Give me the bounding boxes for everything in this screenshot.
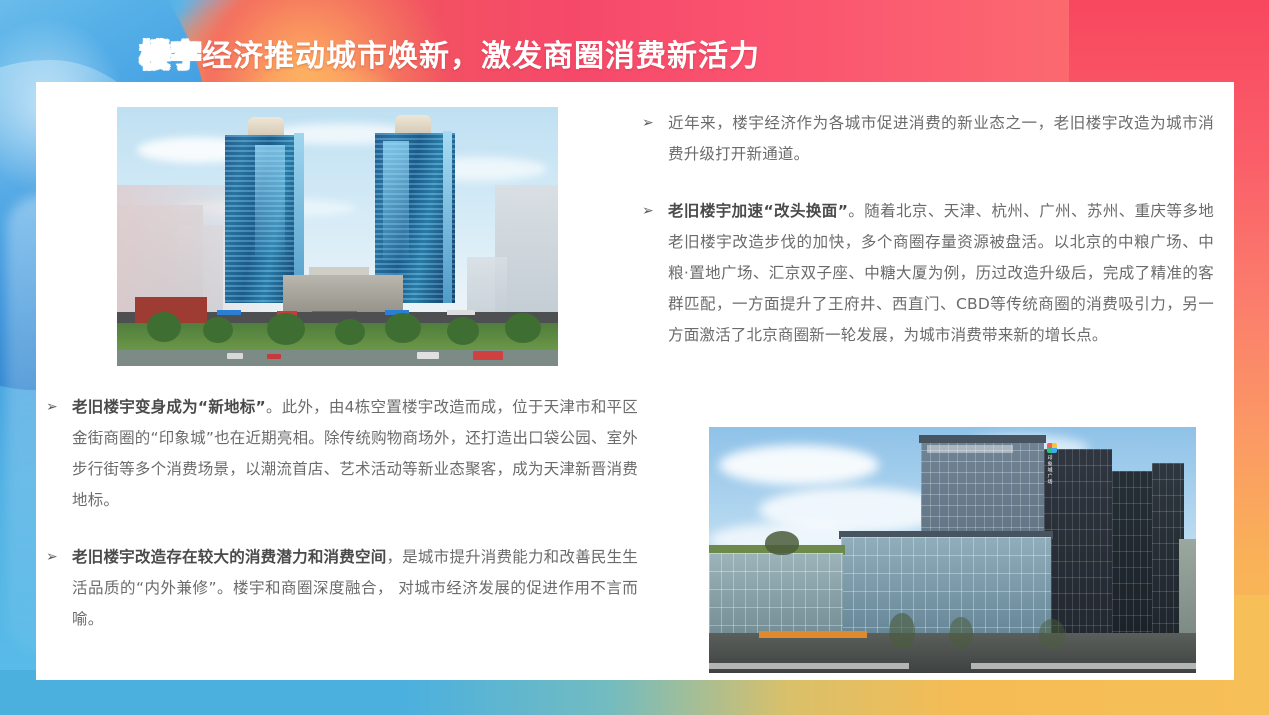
photo2-street-tree xyxy=(949,617,973,649)
photo1-tree xyxy=(147,312,181,342)
bullet-bold-lead: 老旧楼宇加速“改头换面” xyxy=(668,202,848,220)
photo2-street-tree xyxy=(889,613,915,649)
photo2-rooftop-tree xyxy=(765,531,799,555)
photo2-atrium-glass xyxy=(841,537,1051,639)
twin-blue-glass-office-towers-photo xyxy=(117,107,558,366)
photo1-vehicle xyxy=(473,351,503,360)
photo1-vehicle xyxy=(267,354,281,359)
photo1-tree xyxy=(447,317,479,345)
photo2-atrium-glass-grid xyxy=(841,537,1051,639)
bullet-arrow-icon: ➢ xyxy=(642,108,668,170)
photo2-curb xyxy=(971,663,1196,669)
photo2-curb xyxy=(709,663,909,669)
right-text-column: ➢ 近年来，楼宇经济作为各城市促进消费的新业态之一，老旧楼宇改造为城市消费升级打… xyxy=(642,108,1214,377)
photo1-vehicle xyxy=(227,353,243,359)
bullet-bold-lead: 老旧楼宇变身成为“新地标” xyxy=(72,398,266,416)
list-item: ➢ 老旧楼宇加速“改头换面”。随着北京、天津、杭州、广州、苏州、重庆等多地老旧楼… xyxy=(642,196,1214,351)
bullet-arrow-icon: ➢ xyxy=(642,196,668,351)
photo2-cloud xyxy=(719,445,879,485)
title-highlight: 楼宇 xyxy=(140,40,202,73)
bullet-arrow-icon: ➢ xyxy=(46,392,72,516)
photo2-dark-tower-right-a-grid xyxy=(1112,471,1152,637)
page-title: 楼宇经济推动城市焕新，激发商圈消费新活力 xyxy=(140,42,760,72)
bullet-arrow-icon: ➢ xyxy=(46,542,72,635)
photo1-right-tower-reflection xyxy=(383,141,409,261)
company-logo-icon xyxy=(1047,443,1057,453)
photo1-vehicle xyxy=(417,352,439,359)
title-rest: 经济推动城市焕新，激发商圈消费新活力 xyxy=(202,40,760,73)
photo1-tree xyxy=(335,319,365,345)
photo1-signage xyxy=(217,310,241,315)
photo1-tree xyxy=(385,313,421,343)
photo2-dark-tower-left-grid xyxy=(1044,449,1112,637)
photo1-background-building xyxy=(467,257,507,317)
photo1-tree xyxy=(267,313,305,345)
photo2-left-low-block-grid xyxy=(709,553,843,639)
bullet-bold-lead: 老旧楼宇改造存在较大的消费潜力和消费空间 xyxy=(72,548,386,566)
photo2-orange-awning xyxy=(759,631,867,638)
list-item: ➢ 老旧楼宇改造存在较大的消费潜力和消费空间，是城市提升消费能力和改善民生生活品… xyxy=(46,542,638,635)
photo1-left-tower-reflection xyxy=(255,145,285,255)
photo2-rooftop-sign xyxy=(927,445,1013,453)
photo1-tree xyxy=(505,313,541,343)
photo2-street-tree xyxy=(1039,619,1065,649)
slide-root: 楼宇经济推动城市焕新，激发商圈消费新活力 xyxy=(0,0,1269,715)
bullet-text: 老旧楼宇变身成为“新地标”。此外，由4栋空置楼宇改造而成，位于天津市和平区金街商… xyxy=(72,392,638,516)
photo1-right-tower-edge xyxy=(443,131,452,303)
photo2-building-sign: 印象城广场 xyxy=(1046,455,1052,515)
photo1-signage xyxy=(447,310,475,315)
list-item: ➢ 近年来，楼宇经济作为各城市促进消费的新业态之一，老旧楼宇改造为城市消费升级打… xyxy=(642,108,1214,170)
bullet-text: 老旧楼宇加速“改头换面”。随着北京、天津、杭州、广州、苏州、重庆等多地老旧楼宇改… xyxy=(668,196,1214,351)
slide-title-row: 楼宇经济推动城市焕新，激发商圈消费新活力 xyxy=(0,30,1269,84)
bullet-body-text: 。随着北京、天津、杭州、广州、苏州、重庆等多地老旧楼宇改造步伐的加快，多个商圈存… xyxy=(668,202,1214,344)
photo2-main-tower-roof xyxy=(919,435,1046,443)
bullet-text: 近年来，楼宇经济作为各城市促进消费的新业态之一，老旧楼宇改造为城市消费升级打开新… xyxy=(668,108,1214,170)
photo2-left-low-block xyxy=(709,553,843,639)
photo1-tree xyxy=(203,317,233,343)
photo2-dark-tower-right-a xyxy=(1112,471,1152,637)
photo2-far-building xyxy=(1179,539,1196,637)
photo2-dark-tower-left xyxy=(1044,449,1112,637)
bullet-text: 老旧楼宇改造存在较大的消费潜力和消费空间，是城市提升消费能力和改善民生生活品质的… xyxy=(72,542,638,635)
bullet-body-text: 近年来，楼宇经济作为各城市促进消费的新业态之一，老旧楼宇改造为城市消费升级打开新… xyxy=(668,114,1214,163)
modern-office-complex-photo: 印象城广场 xyxy=(709,427,1196,673)
left-text-column: ➢ 老旧楼宇变身成为“新地标”。此外，由4栋空置楼宇改造而成，位于天津市和平区金… xyxy=(46,392,638,661)
list-item: ➢ 老旧楼宇变身成为“新地标”。此外，由4栋空置楼宇改造而成，位于天津市和平区金… xyxy=(46,392,638,516)
